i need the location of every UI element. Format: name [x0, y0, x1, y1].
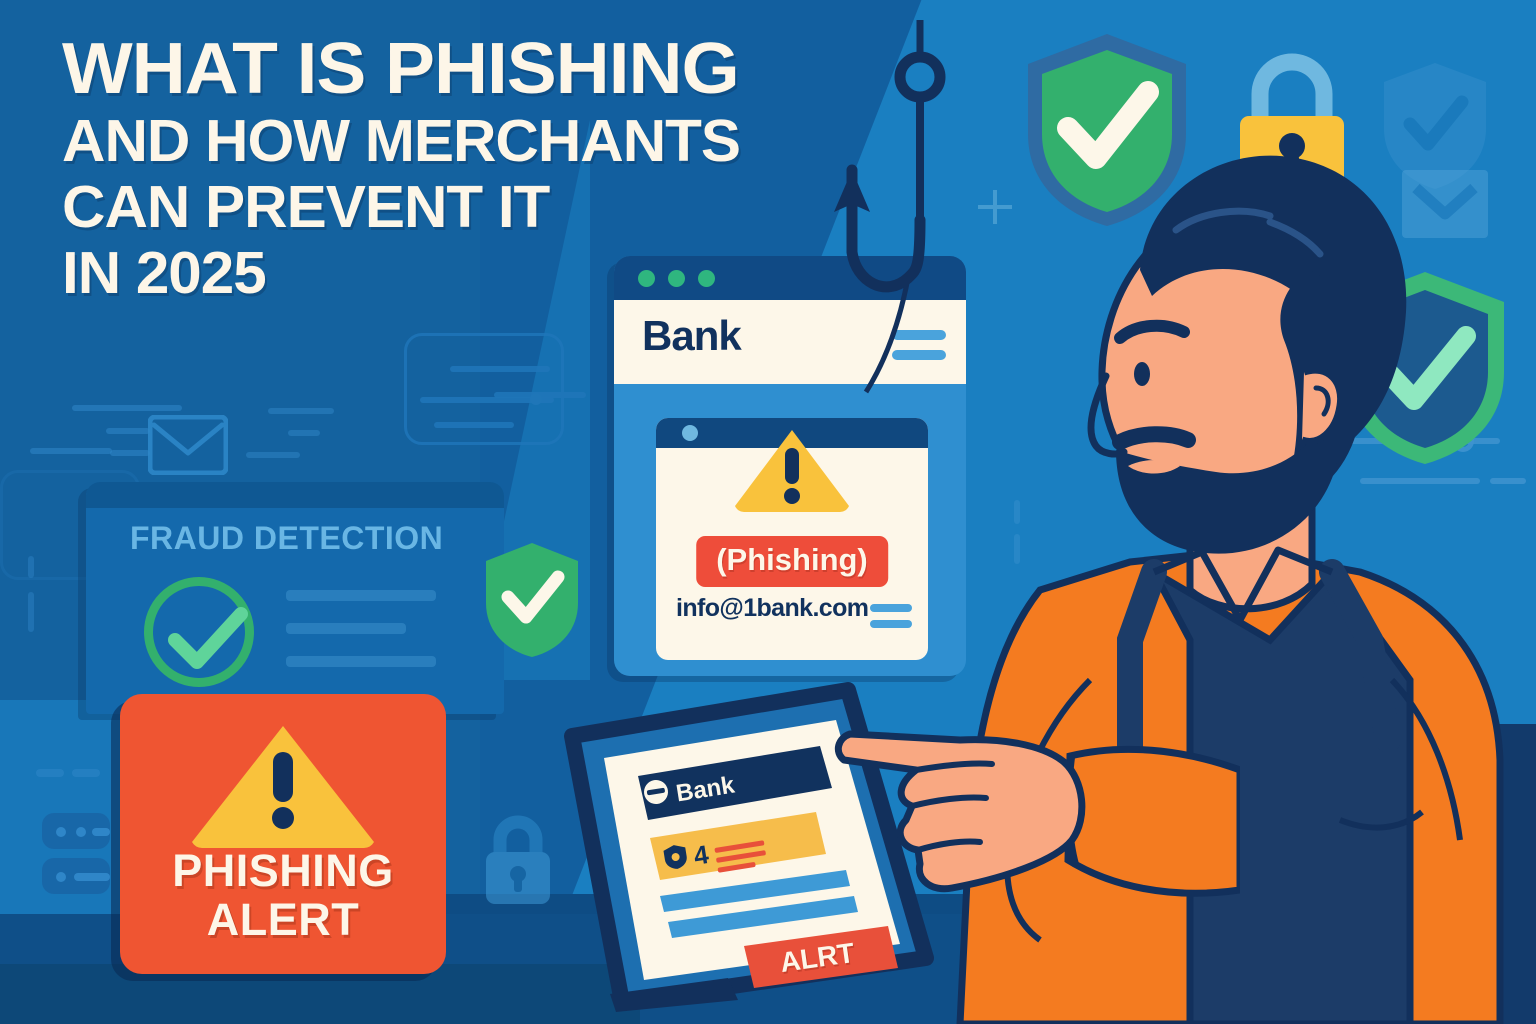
headline-line-3: CAN PREVENT IT — [62, 174, 868, 240]
check-circle-icon — [144, 577, 254, 687]
decor-motion-line — [30, 448, 112, 454]
fraud-detail-line — [286, 590, 436, 601]
check-mark-glyph — [167, 604, 249, 676]
decor-motion-line — [110, 450, 150, 456]
credit-card-outline-icon — [404, 333, 564, 445]
pointing-hand-icon — [820, 700, 1240, 945]
server-rack-led — [56, 827, 66, 837]
fraud-detection-panel: FRAUD DETECTION — [86, 482, 504, 714]
shield-check-icon — [482, 541, 582, 664]
server-rack-bar — [92, 828, 110, 836]
hero-illustration: WHAT IS PHISHING AND HOW MERCHANTS CAN P… — [0, 0, 1536, 1024]
decor-line — [72, 769, 100, 777]
headline-line-1: WHAT IS PHISHING — [62, 30, 884, 108]
headline-line-2: AND HOW MERCHANTS — [62, 108, 868, 174]
fraud-detail-line — [286, 623, 406, 634]
phishing-alert-line-2: ALERT — [120, 895, 446, 944]
hamburger-menu-icon[interactable] — [870, 620, 912, 628]
padlock-icon — [478, 810, 558, 915]
decor-motion-line — [288, 430, 320, 436]
decor-dot — [530, 393, 542, 405]
bank-brand-label: Bank — [642, 312, 741, 360]
headline-line-4: IN 2025 — [62, 240, 868, 306]
hamburger-menu-icon[interactable] — [870, 604, 912, 612]
dialog-dot-icon — [682, 425, 698, 441]
decor-dash — [28, 556, 34, 578]
phishing-alert-card[interactable]: PHISHING ALERT — [120, 694, 446, 974]
decor-motion-line — [268, 408, 334, 414]
hamburger-menu-icon[interactable] — [892, 330, 946, 340]
decor-motion-line — [72, 405, 182, 411]
tablet-notice-shield-icon — [662, 842, 691, 876]
fraud-detail-lines — [286, 590, 436, 689]
server-rack-led — [76, 827, 86, 837]
decor-motion-line — [106, 428, 150, 434]
panel-titlebar — [86, 482, 504, 508]
phishing-badge: (Phishing) — [696, 536, 888, 587]
decor-motion-line — [246, 452, 300, 458]
phishing-dialog[interactable]: (Phishing) info@1bank.com — [656, 418, 928, 660]
phishing-email-address: info@1bank.com — [676, 594, 868, 623]
decor-line — [450, 366, 550, 372]
fraud-detail-line — [286, 656, 436, 667]
envelope-outline-icon — [148, 415, 228, 475]
decor-line — [36, 769, 64, 777]
phishing-alert-text: PHISHING ALERT — [120, 846, 446, 944]
server-rack-bar — [74, 873, 110, 881]
decor-line — [434, 422, 514, 428]
fraud-detection-title: FRAUD DETECTION — [130, 520, 443, 557]
page-title: WHAT IS PHISHING AND HOW MERCHANTS CAN P… — [62, 30, 852, 306]
warning-triangle-icon — [732, 426, 852, 521]
bank-browser-window[interactable]: Bank (Phishing) info@1bank.com — [614, 256, 966, 676]
phishing-alert-line-1: PHISHING — [120, 846, 446, 895]
warning-triangle-icon — [188, 720, 378, 857]
hamburger-menu-icon[interactable] — [892, 350, 946, 360]
decor-dash — [28, 592, 34, 632]
server-rack-led — [56, 872, 66, 882]
